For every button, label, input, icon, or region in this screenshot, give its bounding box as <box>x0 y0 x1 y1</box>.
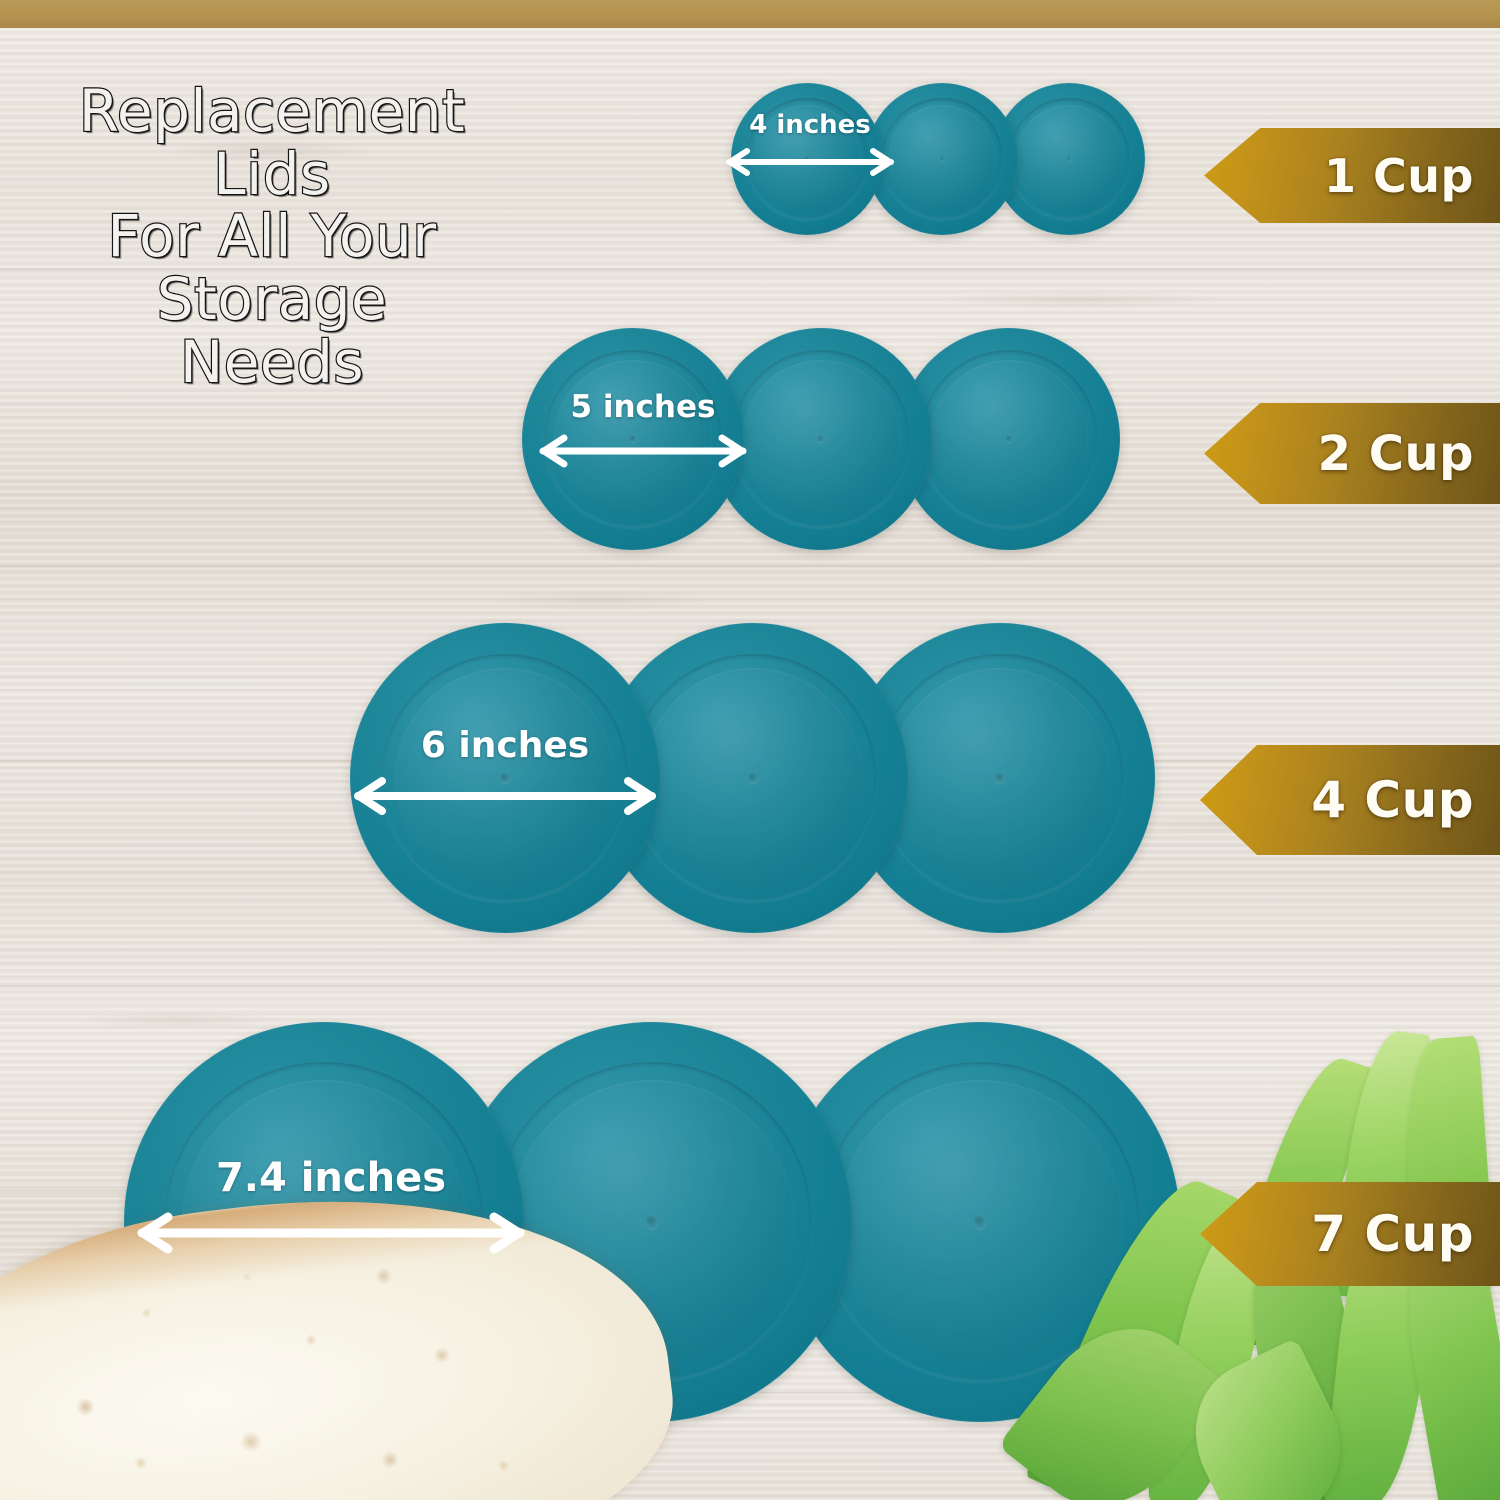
badge-label: 7 Cup <box>1311 1209 1500 1259</box>
badge-4-cup[interactable]: 4 Cup <box>1200 745 1500 855</box>
badge-7-cup[interactable]: 7 Cup <box>1200 1182 1500 1286</box>
badge-1-cup[interactable]: 1 Cup <box>1204 128 1500 223</box>
lid-center-dimple <box>1067 157 1072 162</box>
lid-center-dimple <box>974 1216 987 1229</box>
badge-2-cup[interactable]: 2 Cup <box>1204 403 1500 504</box>
product-infographic: Replacement Lids For All Your Storage Ne… <box>0 0 1500 1500</box>
lid-center-dimple <box>500 773 510 783</box>
top-gold-border <box>0 0 1500 28</box>
lid-center-dimple <box>805 157 810 162</box>
badge-label: 1 Cup <box>1324 153 1500 199</box>
lid-center-dimple <box>940 157 945 162</box>
lid-front <box>522 328 744 550</box>
lid-center-dimple <box>748 773 758 783</box>
lid-front <box>731 83 883 235</box>
lid <box>866 83 1018 235</box>
badge-label: 4 Cup <box>1311 775 1500 825</box>
lid-front <box>350 623 660 933</box>
lid-center-dimple <box>995 773 1005 783</box>
badge-label: 2 Cup <box>1318 430 1500 478</box>
